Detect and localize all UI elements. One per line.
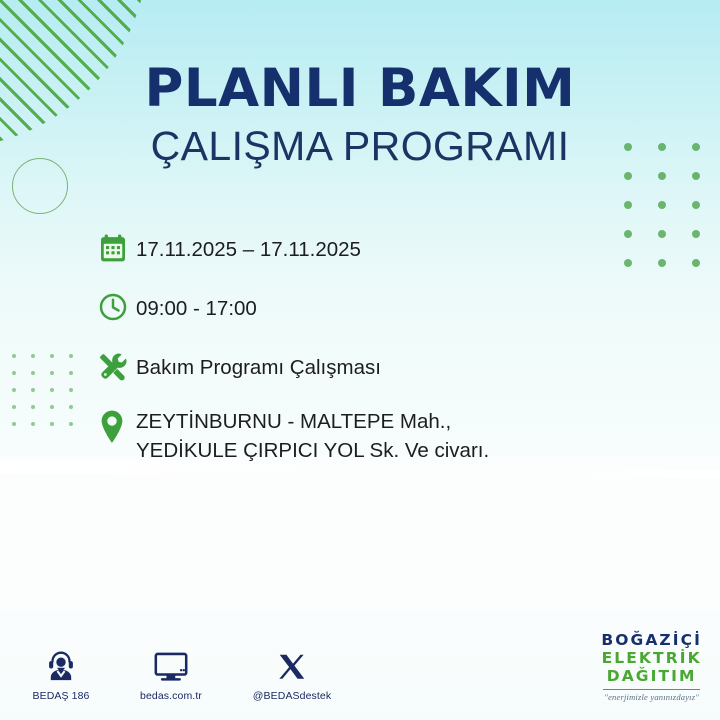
info-row-time: 09:00 - 17:00 — [98, 287, 658, 327]
brand-line-dagitim: DAĞITIM — [601, 668, 702, 686]
info-row-date-text: 17.11.2025 – 17.11.2025 — [136, 228, 361, 264]
brand-divider — [603, 689, 700, 690]
footer-item-x-label: @BEDASdestek — [246, 690, 338, 702]
info-row-worktype-text: Bakım Programı Çalışması — [136, 346, 381, 382]
page-title: PLANLI BAKIM — [0, 62, 720, 115]
page-subtitle: ÇALIŞMA PROGRAMI — [0, 126, 720, 167]
poster-title-block: PLANLI BAKIM ÇALIŞMA PROGRAMI — [0, 62, 720, 167]
info-row-location-line-2: YEDİKULE ÇIRPICI YOL Sk. Ve civarı. — [136, 436, 489, 465]
dot-grid-left-decoration — [12, 354, 88, 439]
support-agent-icon — [26, 643, 96, 683]
background-wash-right — [460, 470, 720, 478]
tools-icon — [98, 346, 136, 386]
brand-line-elektrik: ELEKTRİK — [601, 650, 702, 668]
calendar-icon — [98, 228, 136, 268]
x-logo-icon — [246, 643, 338, 683]
info-list: 17.11.2025 – 17.11.2025 09:00 - 17:00 — [98, 228, 658, 465]
footer-item-phone-label: BEDAŞ 186 — [26, 690, 96, 702]
info-row-location: ZEYTİNBURNU - MALTEPE Mah., YEDİKULE ÇIR… — [98, 405, 658, 465]
brand-line-bogazici: BOĞAZİÇİ — [601, 632, 702, 650]
footer-item-website-label: bedas.com.tr — [132, 690, 210, 702]
brand-logo: BOĞAZİÇİ ELEKTRİK DAĞITIM "enerjimizle y… — [601, 632, 702, 702]
poster-canvas: PLANLI BAKIM ÇALIŞMA PROGRAMI — [0, 0, 720, 720]
info-row-worktype: Bakım Programı Çalışması — [98, 346, 658, 386]
clock-icon — [98, 287, 136, 327]
location-pin-icon — [98, 405, 136, 445]
footer-item-phone[interactable]: BEDAŞ 186 — [26, 643, 96, 702]
footer-contact-strip: BEDAŞ 186 bedas.com.tr @BEDASdestek — [26, 643, 338, 702]
footer-item-website[interactable]: bedas.com.tr — [132, 643, 210, 702]
footer-item-x[interactable]: @BEDASdestek — [246, 643, 338, 702]
info-row-date: 17.11.2025 – 17.11.2025 — [98, 228, 658, 268]
brand-tagline: "enerjimizle yanınızdayız" — [601, 692, 702, 702]
info-row-time-text: 09:00 - 17:00 — [136, 287, 257, 323]
monitor-icon — [132, 643, 210, 683]
info-row-location-text: ZEYTİNBURNU - MALTEPE Mah., YEDİKULE ÇIR… — [136, 405, 489, 465]
info-row-location-line-1: ZEYTİNBURNU - MALTEPE Mah., — [136, 407, 489, 436]
